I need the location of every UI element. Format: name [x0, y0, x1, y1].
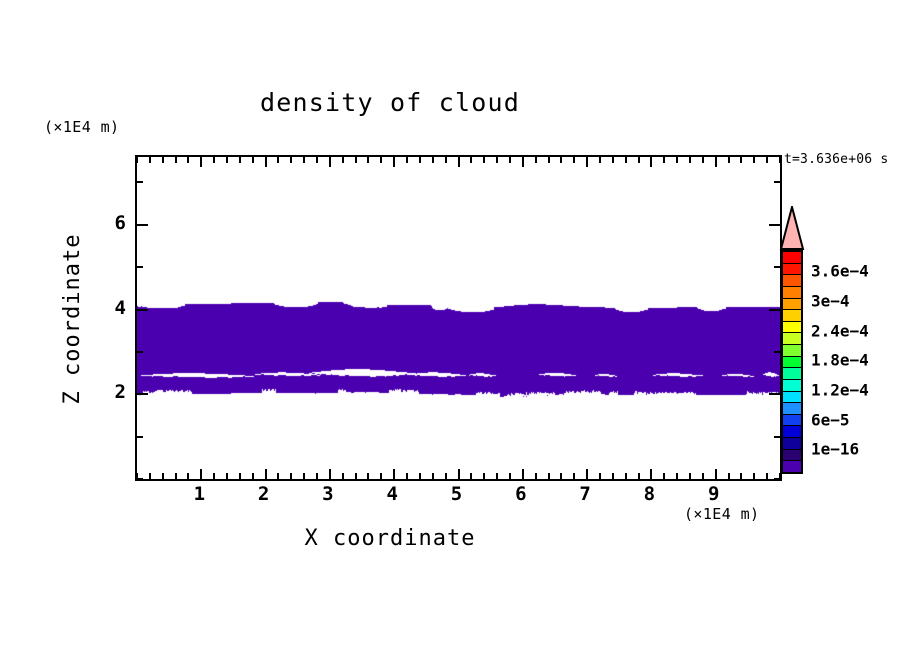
y-minor-tick [137, 478, 143, 480]
x-minor-tick [625, 157, 627, 163]
x-minor-tick [367, 157, 369, 163]
x-minor-tick [573, 473, 575, 479]
x-minor-tick [355, 157, 357, 163]
colorbar-band [783, 310, 801, 322]
y-major-tick [137, 393, 148, 395]
x-major-tick [650, 157, 652, 167]
colorbar-tick-label: 1.2e−4 [811, 381, 869, 400]
x-minor-tick [187, 157, 189, 163]
colorbar-bands [781, 250, 803, 474]
x-minor-tick [187, 473, 189, 479]
colorbar-band [783, 380, 801, 392]
x-major-tick [715, 469, 717, 479]
x-tick-label: 1 [194, 483, 205, 505]
colorbar-tick-label: 3e−4 [811, 292, 850, 311]
x-minor-tick [239, 473, 241, 479]
x-major-tick [265, 469, 267, 479]
chart-title: density of cloud [0, 88, 780, 117]
time-annotation: t=3.636e+06 s [784, 152, 888, 167]
x-major-tick [393, 469, 395, 479]
colorbar: 3.6e−43e−42.4e−41.8e−41.2e−46e−51e−16 [779, 206, 901, 486]
x-minor-tick [676, 157, 678, 163]
x-major-tick [522, 469, 524, 479]
x-minor-tick [689, 157, 691, 163]
colorbar-band [783, 275, 801, 287]
y-major-tick [137, 309, 148, 311]
x-major-tick [586, 157, 588, 167]
colorbar-tick-label: 2.4e−4 [811, 321, 869, 340]
x-minor-tick [277, 157, 279, 163]
x-minor-tick [175, 157, 177, 163]
x-minor-tick [509, 157, 511, 163]
colorbar-tick-label: 3.6e−4 [811, 262, 869, 281]
x-minor-tick [303, 157, 305, 163]
x-minor-tick [226, 473, 228, 479]
colorbar-band [783, 264, 801, 276]
x-minor-tick [432, 473, 434, 479]
figure-root: density of cloud (×1E4 m) (×1E4 m) t=3.6… [0, 0, 904, 654]
colorbar-tick-label: 1e−16 [811, 440, 859, 459]
colorbar-band [783, 252, 801, 264]
x-minor-tick [213, 157, 215, 163]
x-minor-tick [573, 157, 575, 163]
x-major-tick [200, 157, 202, 167]
x-major-tick [458, 157, 460, 167]
x-minor-tick [535, 157, 537, 163]
colorbar-band [783, 368, 801, 380]
x-minor-tick [560, 157, 562, 163]
x-major-tick [265, 157, 267, 167]
x-minor-tick [149, 157, 151, 163]
colorbar-band [783, 426, 801, 438]
x-minor-tick [663, 157, 665, 163]
x-minor-tick [740, 157, 742, 163]
y-minor-tick [137, 266, 143, 268]
plot-area [135, 155, 782, 481]
x-minor-tick [226, 157, 228, 163]
y-tick-label: 4 [100, 297, 126, 319]
y-minor-tick [137, 351, 143, 353]
x-minor-tick [149, 473, 151, 479]
x-minor-tick [702, 157, 704, 163]
x-tick-label: 4 [386, 483, 397, 505]
colorbar-tick-label: 6e−5 [811, 410, 850, 429]
x-minor-tick [470, 473, 472, 479]
x-minor-tick [689, 473, 691, 479]
colorbar-band [783, 333, 801, 345]
x-minor-tick [290, 157, 292, 163]
x-minor-tick [599, 157, 601, 163]
x-minor-tick [380, 157, 382, 163]
y-minor-tick [774, 181, 780, 183]
x-minor-tick [483, 473, 485, 479]
x-major-tick [458, 469, 460, 479]
colorbar-band [783, 450, 801, 462]
x-minor-tick [367, 473, 369, 479]
x-minor-tick [432, 157, 434, 163]
x-minor-tick [702, 473, 704, 479]
x-minor-tick [496, 157, 498, 163]
x-minor-tick [406, 157, 408, 163]
x-minor-tick [419, 473, 421, 479]
x-tick-label: 9 [708, 483, 719, 505]
x-minor-tick [663, 473, 665, 479]
x-minor-tick [252, 473, 254, 479]
y-axis-title: Z coordinate [60, 224, 85, 414]
x-minor-tick [483, 157, 485, 163]
x-minor-tick [766, 157, 768, 163]
x-minor-tick [213, 473, 215, 479]
x-minor-tick [419, 157, 421, 163]
x-minor-tick [638, 157, 640, 163]
x-minor-tick [625, 473, 627, 479]
colorbar-band [783, 322, 801, 334]
x-tick-label: 8 [644, 483, 655, 505]
y-axis-unit-label: (×1E4 m) [44, 118, 119, 136]
x-major-tick [715, 157, 717, 167]
x-minor-tick [548, 157, 550, 163]
x-minor-tick [445, 473, 447, 479]
x-major-tick [393, 157, 395, 167]
colorbar-band [783, 392, 801, 404]
x-minor-tick [342, 473, 344, 479]
x-minor-tick [162, 473, 164, 479]
x-minor-tick [728, 157, 730, 163]
x-minor-tick [753, 157, 755, 163]
x-tick-label: 7 [579, 483, 590, 505]
x-minor-tick [740, 473, 742, 479]
x-axis-unit-label: (×1E4 m) [684, 505, 759, 523]
x-tick-label: 2 [258, 483, 269, 505]
colorbar-band [783, 438, 801, 450]
x-minor-tick [496, 473, 498, 479]
x-minor-tick [535, 473, 537, 479]
x-minor-tick [252, 157, 254, 163]
y-tick-label: 6 [100, 212, 126, 234]
colorbar-band [783, 287, 801, 299]
x-tick-label: 3 [322, 483, 333, 505]
x-minor-tick [612, 157, 614, 163]
x-minor-tick [470, 157, 472, 163]
x-minor-tick [175, 473, 177, 479]
x-minor-tick [136, 157, 138, 163]
colorbar-tick-label: 1.8e−4 [811, 351, 869, 370]
x-minor-tick [599, 473, 601, 479]
y-minor-tick [137, 181, 143, 183]
colorbar-band [783, 415, 801, 427]
x-minor-tick [676, 473, 678, 479]
x-minor-tick [380, 473, 382, 479]
x-minor-tick [753, 473, 755, 479]
x-major-tick [329, 157, 331, 167]
x-major-tick [650, 469, 652, 479]
y-minor-tick [137, 436, 143, 438]
colorbar-band [783, 403, 801, 415]
x-minor-tick [406, 473, 408, 479]
colorbar-band [783, 345, 801, 357]
x-minor-tick [162, 157, 164, 163]
x-minor-tick [277, 473, 279, 479]
x-major-tick [329, 469, 331, 479]
x-minor-tick [779, 157, 781, 163]
colorbar-band [783, 299, 801, 311]
x-minor-tick [728, 473, 730, 479]
x-major-tick [200, 469, 202, 479]
colorbar-band [783, 461, 801, 472]
x-minor-tick [638, 473, 640, 479]
colorbar-overflow-arrow-icon [779, 206, 805, 250]
y-major-tick [137, 224, 148, 226]
x-minor-tick [342, 157, 344, 163]
y-tick-label: 2 [100, 381, 126, 403]
x-axis-title: X coordinate [0, 526, 780, 551]
colorbar-band [783, 357, 801, 369]
x-minor-tick [355, 473, 357, 479]
x-minor-tick [445, 157, 447, 163]
x-minor-tick [612, 473, 614, 479]
x-minor-tick [303, 473, 305, 479]
x-minor-tick [290, 473, 292, 479]
x-minor-tick [548, 473, 550, 479]
x-minor-tick [509, 473, 511, 479]
x-minor-tick [316, 473, 318, 479]
x-minor-tick [560, 473, 562, 479]
x-major-tick [522, 157, 524, 167]
x-minor-tick [316, 157, 318, 163]
x-minor-tick [766, 473, 768, 479]
x-major-tick [586, 469, 588, 479]
x-minor-tick [239, 157, 241, 163]
x-tick-label: 5 [451, 483, 462, 505]
x-tick-label: 6 [515, 483, 526, 505]
cloud-density-field [137, 157, 780, 479]
